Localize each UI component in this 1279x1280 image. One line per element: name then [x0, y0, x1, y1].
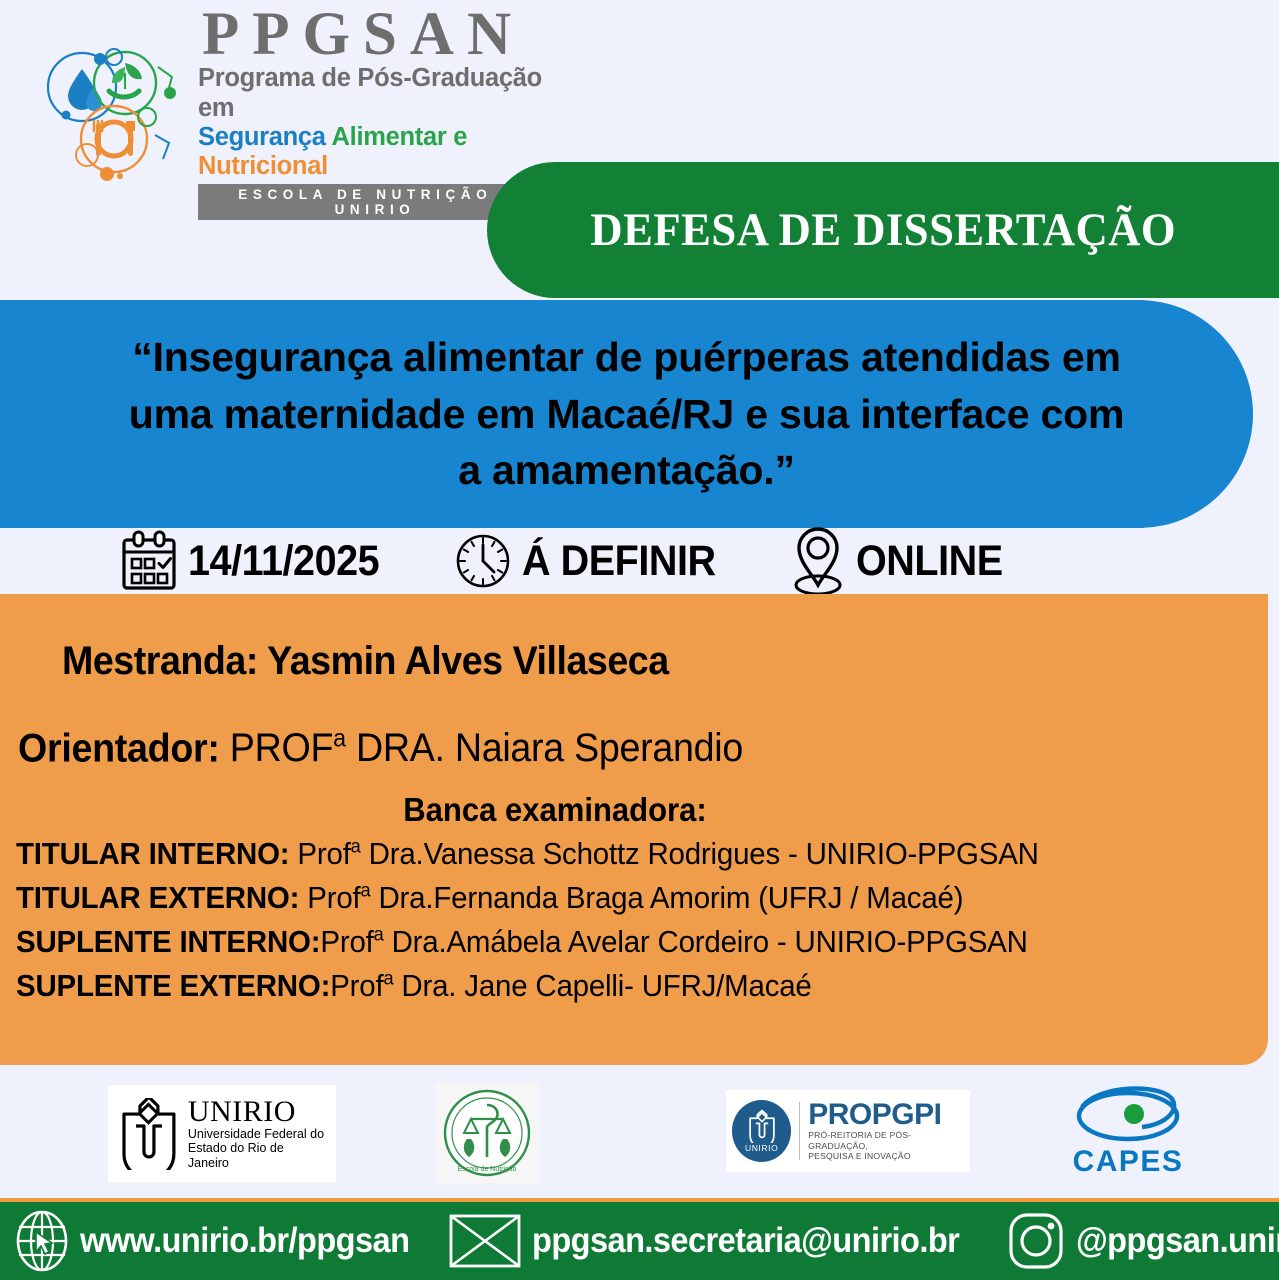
logo-word-nutricional: Nutricional [198, 152, 328, 180]
details-panel: Mestranda: Yasmin Alves Villaseca Orient… [0, 594, 1268, 1065]
logo-program-line: Programa de Pós-Graduação em [198, 64, 550, 123]
logo-word-alimentar: Alimentar e [332, 123, 468, 151]
propgpi-unirio-seal-icon: UNIRIO [732, 1100, 791, 1162]
board-role: SUPLENTE INTERNO: [16, 924, 320, 959]
globe-cursor-icon [14, 1210, 70, 1272]
footer-instagram-text: @ppgsan.unirio [1076, 1221, 1279, 1261]
board-title: Banca examinadora: [33, 791, 1076, 829]
capes-logo: CAPES [1063, 1083, 1193, 1183]
board-member-row: TITULAR INTERNO: Profa Dra.Vanessa Schot… [16, 832, 1194, 876]
contact-footer: www.unirio.br/ppgsan ppgsan.secretaria@u… [0, 1198, 1279, 1280]
map-pin-icon [790, 525, 846, 597]
propgpi-subtitle-2: PESQUISA E INOVAÇÃO [808, 1151, 964, 1162]
clock-icon [454, 532, 512, 590]
advisor-label: Orientador: [18, 726, 220, 770]
thesis-title-text: “Insegurança alimentar de puérperas aten… [122, 329, 1132, 499]
event-time: Á DEFINIR [454, 532, 733, 590]
envelope-icon [448, 1211, 522, 1271]
board-list: TITULAR INTERNO: Profa Dra.Vanessa Schot… [16, 832, 1256, 1008]
propgpi-subtitle-1: PRÓ-REITORIA DE PÓS-GRADUAÇÃO, [808, 1130, 964, 1151]
unirio-emblem-icon [116, 1098, 182, 1170]
propgpi-seal-label: UNIRIO [745, 1143, 778, 1153]
capes-mark-icon [1068, 1083, 1188, 1149]
unirio-subtitle-2: Estado do Rio de Janeiro [188, 1141, 328, 1170]
event-info-row: 14/11/2025 Á DEFINIR [0, 528, 1279, 594]
board-role: SUPLENTE EXTERNO: [16, 968, 330, 1003]
logo-word-seguranca: Segurança [198, 123, 326, 151]
advisor-name: PROFa DRA. Naiara Sperandio [230, 726, 743, 770]
poster-root: PPGSAN Programa de Pós-Graduação em Segu… [0, 0, 1279, 1280]
nutrition-seal-icon: Escola de Nutrição [441, 1087, 533, 1179]
event-place: ONLINE [790, 525, 1015, 597]
event-date: 14/11/2025 [120, 530, 396, 592]
student-label: Mestranda: [62, 639, 258, 683]
event-date-text: 14/11/2025 [188, 537, 379, 586]
board-name: Profa Dra. Jane Capelli- UFRJ/Macaé [330, 968, 811, 1003]
student-line: Mestranda: Yasmin Alves Villaseca [62, 639, 669, 684]
advisor-line: Orientador: PROFa DRA. Naiara Sperandio [18, 726, 743, 771]
student-name: Yasmin Alves Villaseca [267, 639, 668, 683]
svg-text:Escola de Nutrição: Escola de Nutrição [458, 1166, 517, 1173]
propgpi-name: PROPGPI [808, 1100, 964, 1130]
ppgsan-logo-mark [30, 43, 190, 183]
board-name: Profa Dra.Fernanda Braga Amorim (UFRJ / … [299, 880, 963, 915]
unirio-logo: UNIRIO Universidade Federal do Estado do… [108, 1085, 336, 1182]
board-name: Profa Dra.Vanessa Schottz Rodrigues - UN… [289, 836, 1038, 871]
unirio-name: UNIRIO [188, 1097, 328, 1127]
unirio-seal-mark-icon [745, 1109, 779, 1143]
thesis-title-banner: “Insegurança alimentar de puérperas aten… [0, 300, 1253, 528]
propgpi-divider [799, 1102, 800, 1160]
board-member-row: SUPLENTE EXTERNO:Profa Dra. Jane Capelli… [16, 964, 1194, 1008]
nutrition-school-seal: Escola de Nutrição [435, 1083, 539, 1183]
page-title: DEFESA DE DISSERTAÇÃO [590, 203, 1176, 257]
header-banner: DEFESA DE DISSERTAÇÃO [487, 162, 1279, 298]
logo-subject-line: Segurança Alimentar e Nutricional [198, 123, 550, 182]
footer-instagram[interactable]: @ppgsan.unirio [1006, 1210, 1279, 1272]
board-member-row: TITULAR EXTERNO: Profa Dra.Fernanda Brag… [16, 876, 1194, 920]
unirio-subtitle-1: Universidade Federal do [188, 1127, 328, 1141]
board-member-row: SUPLENTE INTERNO:Profa Dra.Amábela Avela… [16, 920, 1194, 964]
instagram-icon [1006, 1210, 1066, 1272]
event-place-text: ONLINE [856, 537, 1003, 586]
board-role: TITULAR EXTERNO: [16, 880, 299, 915]
calendar-icon [120, 530, 178, 592]
capes-name: CAPES [1073, 1145, 1184, 1179]
ppgsan-logo: PPGSAN Programa de Pós-Graduação em Segu… [30, 38, 550, 188]
footer-website[interactable]: www.unirio.br/ppgsan [14, 1210, 434, 1272]
logo-acronym: PPGSAN [202, 6, 524, 64]
board-role: TITULAR INTERNO: [16, 836, 289, 871]
propgpi-logo: UNIRIO PROPGPI PRÓ-REITORIA DE PÓS-GRADU… [726, 1090, 970, 1172]
board-name: Profa Dra.Amábela Avelar Cordeiro - UNIR… [320, 924, 1027, 959]
event-time-text: Á DEFINIR [522, 537, 716, 586]
footer-website-text: www.unirio.br/ppgsan [80, 1221, 409, 1261]
footer-email[interactable]: ppgsan.secretaria@unirio.br [448, 1211, 991, 1271]
footer-email-text: ppgsan.secretaria@unirio.br [532, 1221, 959, 1261]
